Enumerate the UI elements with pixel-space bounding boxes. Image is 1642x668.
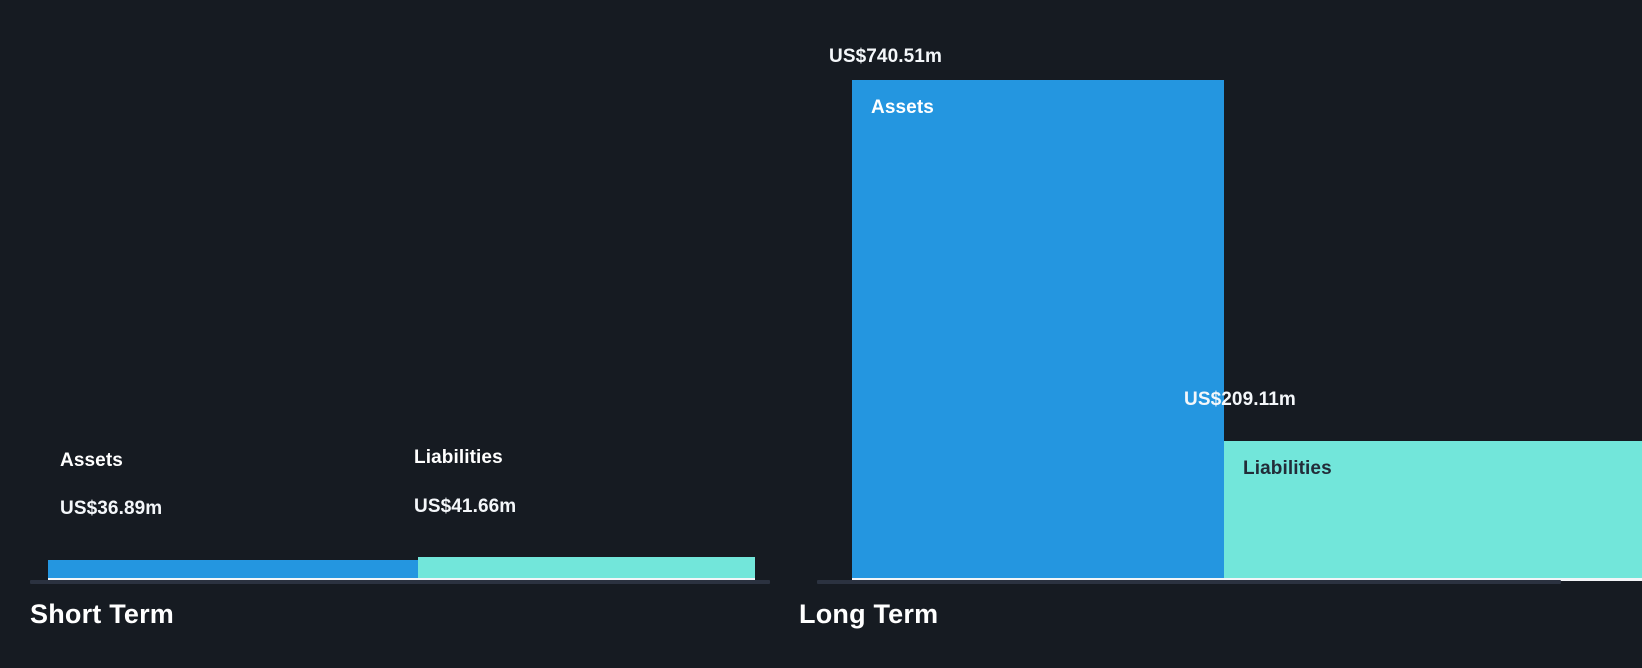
long-term-assets-bar[interactable]: Assets xyxy=(852,80,1224,578)
short-term-axis-line xyxy=(30,580,770,584)
long-term-assets-label: Assets xyxy=(871,97,934,119)
short-term-liabilities-label: Liabilities xyxy=(414,447,503,469)
long-term-assets-value: US$740.51m xyxy=(829,46,942,68)
long-term-axis-line xyxy=(817,580,1561,584)
long-term-liabilities-bar[interactable]: Liabilities xyxy=(1224,441,1642,578)
short-term-liabilities-value: US$41.66m xyxy=(414,496,516,518)
short-term-assets-bar[interactable] xyxy=(48,560,418,578)
long-term-liabilities-value: US$209.11m xyxy=(1184,389,1296,411)
long-term-title: Long Term xyxy=(799,599,938,630)
short-term-assets-label: Assets xyxy=(60,450,123,472)
balance-sheet-chart: US$36.89m Assets US$41.66m Liabilities S… xyxy=(0,0,1642,668)
short-term-liabilities-bar[interactable] xyxy=(418,557,755,578)
short-term-assets-value: US$36.89m xyxy=(60,498,162,520)
panel-long-term: US$740.51m Assets US$209.11m Liabilities… xyxy=(795,0,1642,668)
panel-short-term: US$36.89m Assets US$41.66m Liabilities S… xyxy=(0,0,795,668)
short-term-title: Short Term xyxy=(30,599,174,630)
long-term-liabilities-label: Liabilities xyxy=(1243,458,1332,480)
